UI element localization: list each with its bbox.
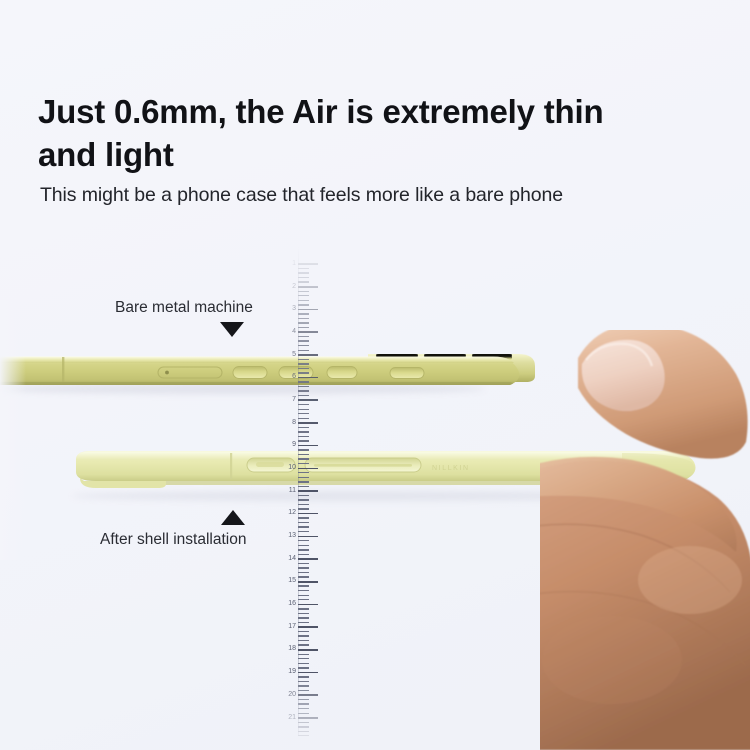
ruler-tick-label: 6 (292, 373, 296, 380)
ruler-tick-minor (298, 599, 309, 600)
ruler-tick-minor (298, 708, 309, 709)
ruler-tick-minor (298, 277, 309, 278)
ruler-tick-minor (298, 281, 309, 282)
ruler-tick-minor (298, 300, 309, 301)
ruler-tick-minor (298, 622, 309, 623)
ruler-tick-label: 9 (292, 441, 296, 448)
ruler-tick-minor (298, 350, 309, 351)
ruler-tick-major (298, 536, 318, 538)
ruler-tick-minor (298, 608, 309, 609)
ruler-tick-label: 13 (288, 532, 296, 539)
ruler-tick-major (298, 468, 318, 470)
triangle-up-icon (221, 510, 245, 525)
ruler-tick-minor (298, 318, 309, 319)
ruler-tick-minor (298, 499, 309, 500)
ruler-tick-minor (298, 368, 309, 369)
ruler-tick-minor (298, 454, 309, 455)
ruler-tick-minor (298, 304, 309, 305)
triangle-down-icon (220, 322, 244, 337)
ruler-tick-minor (298, 567, 309, 568)
ruler-tick-minor (298, 472, 309, 473)
ruler-tick-minor (298, 640, 309, 641)
ruler-tick-minor (298, 381, 309, 382)
ruler-tick-label: 21 (288, 714, 296, 721)
ruler-tick-minor (298, 404, 309, 405)
ruler-tick-minor (298, 690, 309, 691)
ruler-tick-minor (298, 345, 309, 346)
ruler-tick-minor (298, 440, 309, 441)
ruler-tick-major (298, 490, 318, 492)
ruler-tick-minor (298, 563, 309, 564)
ruler-tick-minor (298, 386, 309, 387)
ruler-tick-minor (298, 463, 309, 464)
ruler-tick-minor (298, 526, 309, 527)
ruler-tick-minor (298, 554, 309, 555)
ruler-tick-major (298, 513, 318, 515)
ruler-tick-minor (298, 699, 309, 700)
ruler-tick-minor (298, 540, 309, 541)
ruler-tick-label: 14 (288, 555, 296, 562)
ruler-tick-major (298, 422, 318, 424)
ruler-tick-minor (298, 477, 309, 478)
ruler-tick-minor (298, 313, 309, 314)
ruler-tick-minor (298, 549, 309, 550)
ruler-tick-minor (298, 272, 309, 273)
ruler-tick-minor (298, 409, 309, 410)
ruler-tick-major (298, 445, 318, 447)
ruler-tick-major (298, 581, 318, 583)
ruler-tick-minor (298, 363, 309, 364)
ruler-tick-minor (298, 731, 309, 732)
ruler-tick-minor (298, 372, 309, 373)
ruler-tick-major (298, 309, 318, 311)
ruler-tick-minor (298, 449, 309, 450)
ruler-tick-label: 17 (288, 623, 296, 630)
ruler-tick-label: 11 (289, 487, 296, 494)
ruler-tick-minor (298, 676, 309, 677)
ruler-tick-minor (298, 658, 309, 659)
ruler-tick-minor (298, 735, 309, 736)
ruler-tick-major (298, 604, 318, 606)
ruler-tick-minor (298, 667, 309, 668)
ruler-tick-label: 7 (292, 396, 296, 403)
case-brand-emboss: NILLKIN (432, 465, 470, 472)
ruler-tick-label: 10 (288, 464, 296, 471)
ruler-tick-label: 4 (292, 328, 296, 335)
ruler-tick-minor (298, 458, 309, 459)
ruler-tick-major (298, 694, 318, 696)
ruler-tick-label: 2 (292, 283, 296, 290)
ruler-tick-minor (298, 295, 309, 296)
ruler-tick-minor (298, 713, 309, 714)
page-title: Just 0.6mm, the Air is extremely thin an… (38, 90, 638, 176)
ruler-tick-minor (298, 613, 309, 614)
ruler-tick-major (298, 626, 318, 628)
ruler-tick-major (298, 354, 318, 356)
ruler-tick-minor (298, 631, 309, 632)
antenna-line (62, 357, 64, 383)
ruler-tick-minor (298, 654, 309, 655)
ruler-tick-major (298, 558, 318, 560)
callout-cased-phone-label: After shell installation (100, 531, 246, 549)
ruler-tick-minor (298, 590, 309, 591)
ruler-tick-minor (298, 431, 309, 432)
ruler-tick-minor (298, 644, 309, 645)
ruler-tick-minor (298, 504, 309, 505)
ruler-tick-minor (298, 572, 309, 573)
callout-bare-phone-label: Bare metal machine (115, 299, 253, 317)
ruler-tick-major (298, 672, 318, 674)
ruler-tick-major (298, 717, 318, 719)
ruler-tick-minor (298, 481, 309, 482)
page-subtitle: This might be a phone case that feels mo… (40, 182, 660, 208)
ruler-tick-label: 20 (288, 691, 296, 698)
ruler-tick-minor (298, 685, 309, 686)
ruler-tick-minor (298, 703, 309, 704)
ruler-tick-label: 19 (288, 668, 296, 675)
ruler-tick-major (298, 263, 318, 265)
ruler-tick-label: 12 (288, 509, 296, 516)
ruler-tick-minor (298, 340, 309, 341)
ruler-tick-major (298, 286, 318, 288)
measurement-ruler: 123456789101112131415161718192021 (276, 246, 322, 736)
ruler-tick-minor (298, 427, 309, 428)
ruler-tick-minor (298, 726, 309, 727)
ruler-tick-label: 8 (292, 419, 296, 426)
ruler-tick-minor (298, 486, 309, 487)
ruler-tick-major (298, 649, 318, 651)
ruler-tick-minor (298, 390, 309, 391)
ruler-tick-minor (298, 545, 309, 546)
ruler-tick-minor (298, 359, 309, 360)
ruler-tick-minor (298, 418, 309, 419)
ruler-tick-minor (298, 413, 309, 414)
ruler-tick-minor (298, 327, 309, 328)
ruler-tick-minor (298, 336, 309, 337)
ruler-tick-minor (298, 663, 309, 664)
ruler-tick-minor (298, 268, 309, 269)
ruler-tick-minor (298, 495, 309, 496)
ruler-tick-major (298, 377, 318, 379)
ruler-tick-label: 16 (288, 600, 296, 607)
ruler-tick-label: 15 (288, 577, 296, 584)
bare-phone-illustration (0, 330, 550, 410)
side-buttons (233, 367, 424, 379)
ruler-tick-minor (298, 395, 309, 396)
button-cutouts (247, 458, 421, 472)
ruler-tick-minor (298, 322, 309, 323)
ruler-tick-minor (298, 436, 309, 437)
hand-illustration (540, 330, 750, 750)
ruler-tick-minor (298, 722, 309, 723)
ruler-tick-label: 5 (292, 351, 296, 358)
ruler-tick-minor (298, 531, 309, 532)
ruler-tick-minor (298, 291, 309, 292)
ruler-tick-minor (298, 517, 309, 518)
ruler-tick-minor (298, 576, 309, 577)
promo-banner: Just 0.6mm, the Air is extremely thin an… (0, 0, 750, 750)
ruler-tick-label: 18 (288, 645, 296, 652)
ruler-tick-minor (298, 585, 309, 586)
case-seam (230, 453, 232, 479)
ruler-tick-minor (298, 681, 309, 682)
ruler-tick-minor (298, 508, 309, 509)
ruler-tick-major (298, 331, 318, 333)
ruler-tick-label: 3 (292, 305, 296, 312)
ruler-tick-major (298, 399, 318, 401)
ruler-tick-minor (298, 617, 309, 618)
ruler-tick-minor (298, 595, 309, 596)
phone-top-rim (0, 357, 514, 364)
ruler-tick-label: 1 (292, 260, 296, 267)
ruler-tick-minor (298, 522, 309, 523)
ruler-tick-minor (298, 635, 309, 636)
